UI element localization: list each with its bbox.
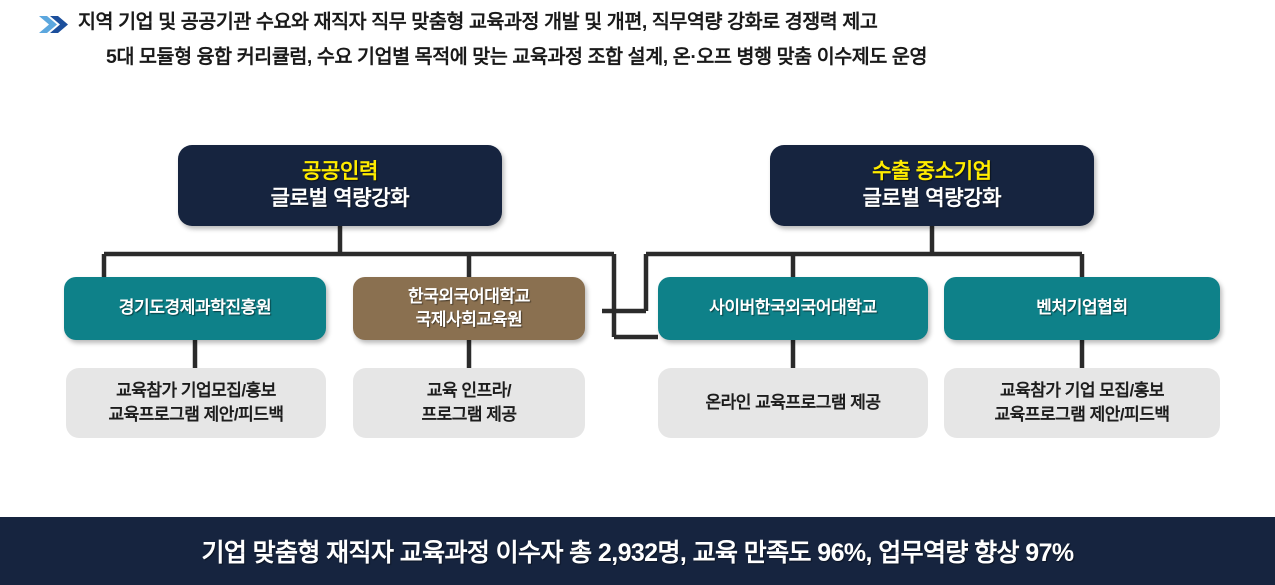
top-node-public-workforce-line2: 글로벌 역량강화 xyxy=(271,186,410,213)
mid-node-gyeonggi-gbsa-line1: 경기도경제과학진흥원 xyxy=(119,297,271,319)
summary-banner-text: 기업 맞춤형 재직자 교육과정 이수자 총 2,932명, 교육 만족도 96%… xyxy=(201,533,1073,569)
org-diagram: 공공인력 글로벌 역량강화 수출 중소기업 글로벌 역량강화 경기도경제과학진흥… xyxy=(0,0,1275,505)
top-node-export-sme[interactable]: 수출 중소기업 글로벌 역량강화 xyxy=(770,145,1094,226)
mid-node-gyeonggi-gbsa[interactable]: 경기도경제과학진흥원 xyxy=(64,277,326,340)
leaf-node-venture-role-line1: 교육참가 기업 모집/홍보 xyxy=(1000,379,1164,403)
top-node-public-workforce-line1: 공공인력 xyxy=(302,159,378,186)
leaf-node-cyber-hufs-role[interactable]: 온라인 교육프로그램 제공 xyxy=(658,368,928,438)
leaf-node-venture-role[interactable]: 교육참가 기업 모집/홍보 교육프로그램 제안/피드백 xyxy=(944,368,1220,438)
leaf-node-cyber-hufs-role-line1: 온라인 교육프로그램 제공 xyxy=(706,391,881,415)
mid-node-cyber-hufs[interactable]: 사이버한국외국어대학교 xyxy=(658,277,928,340)
top-node-export-sme-line1: 수출 중소기업 xyxy=(872,159,992,186)
top-node-export-sme-line2: 글로벌 역량강화 xyxy=(863,186,1002,213)
mid-node-venture-association-line1: 벤처기업협회 xyxy=(1036,297,1127,319)
mid-node-cyber-hufs-line1: 사이버한국외국어대학교 xyxy=(709,297,877,319)
mid-node-hufs-institute-line2: 국제사회교육원 xyxy=(416,309,523,331)
mid-node-venture-association[interactable]: 벤처기업협회 xyxy=(944,277,1220,340)
leaf-node-gbsa-role[interactable]: 교육참가 기업모집/홍보 교육프로그램 제안/피드백 xyxy=(66,368,326,438)
leaf-node-venture-role-line2: 교육프로그램 제안/피드백 xyxy=(995,403,1170,427)
leaf-node-gbsa-role-line1: 교육참가 기업모집/홍보 xyxy=(116,379,276,403)
mid-node-hufs-institute-line1: 한국외국어대학교 xyxy=(408,286,530,308)
leaf-node-hufs-role-line2: 프로그램 제공 xyxy=(421,403,516,427)
top-node-public-workforce[interactable]: 공공인력 글로벌 역량강화 xyxy=(178,145,502,226)
leaf-node-hufs-role[interactable]: 교육 인프라/ 프로그램 제공 xyxy=(353,368,585,438)
leaf-node-hufs-role-line1: 교육 인프라/ xyxy=(427,379,511,403)
leaf-node-gbsa-role-line2: 교육프로그램 제안/피드백 xyxy=(109,403,284,427)
summary-banner: 기업 맞춤형 재직자 교육과정 이수자 총 2,932명, 교육 만족도 96%… xyxy=(0,517,1275,585)
mid-node-hufs-institute[interactable]: 한국외국어대학교 국제사회교육원 xyxy=(353,277,585,340)
